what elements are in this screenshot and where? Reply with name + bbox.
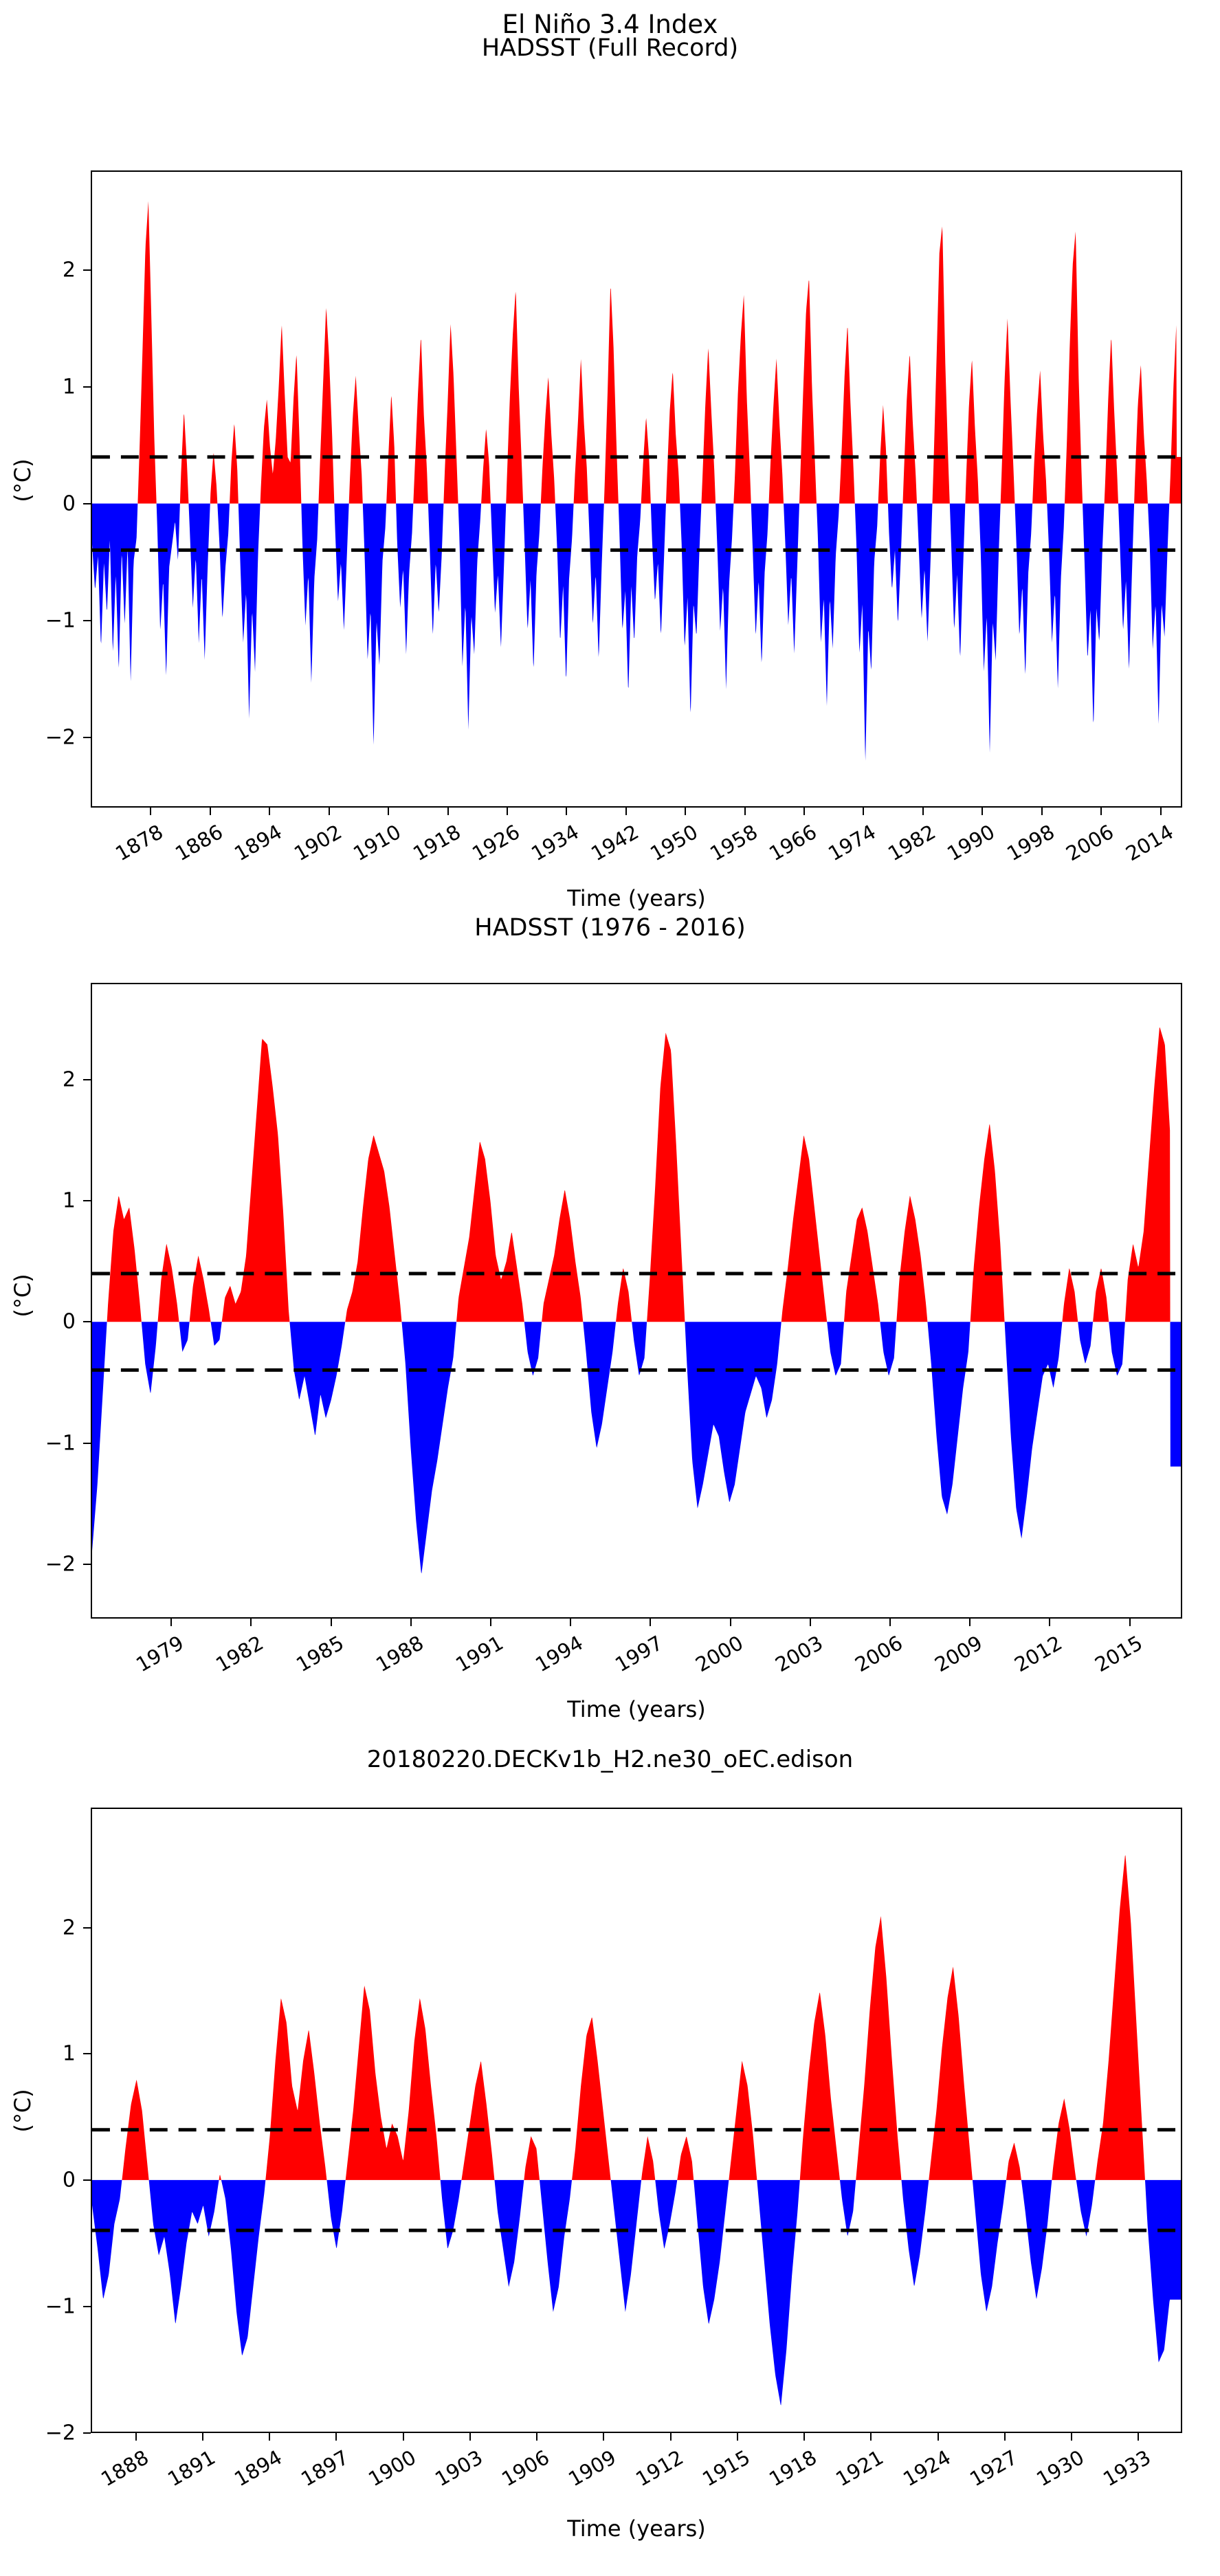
- x-tick-label: 1988: [351, 1631, 428, 1688]
- x-tick-mark: [863, 808, 864, 815]
- y-tick-mark: [83, 2053, 91, 2054]
- x-tick-label: 1894: [210, 2445, 287, 2502]
- x-tick-label: 1926: [447, 820, 524, 877]
- x-tick-mark: [969, 1619, 971, 1626]
- x-tick-mark: [938, 2433, 939, 2441]
- x-tick-mark: [536, 2433, 537, 2441]
- y-tick-label: −2: [15, 725, 76, 749]
- x-tick-mark: [1004, 2433, 1006, 2441]
- panel-2-axes: [91, 983, 1182, 1619]
- x-tick-mark: [403, 2433, 404, 2441]
- x-tick-label: 2012: [990, 1631, 1067, 1688]
- y-tick-mark: [83, 1927, 91, 1929]
- x-tick-mark: [202, 2433, 203, 2441]
- x-tick-label: 2014: [1101, 820, 1177, 877]
- x-tick-mark: [625, 808, 627, 815]
- x-tick-label: 1950: [626, 820, 702, 877]
- y-tick-mark: [83, 620, 91, 621]
- y-tick-mark: [83, 737, 91, 738]
- x-tick-label: 1921: [812, 2445, 888, 2502]
- x-tick-mark: [210, 808, 211, 815]
- y-tick-label: −2: [15, 1552, 76, 1576]
- x-tick-mark: [507, 808, 508, 815]
- x-tick-label: 1878: [91, 820, 168, 877]
- x-tick-label: 1991: [431, 1631, 507, 1688]
- x-tick-mark: [670, 2433, 672, 2441]
- x-tick-label: 2006: [830, 1631, 907, 1688]
- x-tick-mark: [737, 2433, 738, 2441]
- y-tick-mark: [83, 1443, 91, 1444]
- y-tick-label: −1: [15, 608, 76, 632]
- x-tick-label: 1982: [192, 1631, 268, 1688]
- x-tick-mark: [1138, 2433, 1139, 2441]
- negative-anomaly-area: [92, 2180, 1181, 2406]
- y-tick-mark: [83, 503, 91, 504]
- panel-1-plot: [92, 172, 1181, 806]
- y-tick-label: 0: [15, 2168, 76, 2192]
- y-tick-mark: [83, 2179, 91, 2181]
- y-tick-label: 2: [15, 258, 76, 282]
- x-tick-label: 1924: [878, 2445, 955, 2502]
- y-tick-mark: [83, 2432, 91, 2434]
- x-tick-mark: [803, 2433, 805, 2441]
- y-tick-mark: [83, 386, 91, 388]
- y-tick-label: 0: [15, 1310, 76, 1334]
- y-tick-label: 1: [15, 1189, 76, 1213]
- x-tick-mark: [922, 808, 924, 815]
- x-tick-label: 1909: [544, 2445, 621, 2502]
- panel-3-xlabel: Time (years): [91, 2516, 1182, 2542]
- x-tick-label: 2003: [751, 1631, 827, 1688]
- y-tick-mark: [83, 1321, 91, 1322]
- y-tick-label: −2: [15, 2421, 76, 2445]
- x-tick-label: 1906: [478, 2445, 554, 2502]
- x-tick-mark: [1160, 808, 1162, 815]
- x-tick-label: 1979: [112, 1631, 188, 1688]
- x-tick-label: 1915: [678, 2445, 754, 2502]
- x-tick-mark: [170, 1619, 172, 1626]
- y-tick-mark: [83, 1200, 91, 1201]
- x-tick-label: 1918: [745, 2445, 821, 2502]
- panel-3-title: 20180220.DECKv1b_H2.ne30_oEC.edison: [0, 1746, 1220, 1773]
- x-tick-mark: [388, 808, 389, 815]
- x-tick-label: 1903: [410, 2445, 487, 2502]
- x-tick-label: 1982: [863, 820, 940, 877]
- x-tick-label: 1902: [269, 820, 346, 877]
- x-tick-label: 1900: [344, 2445, 420, 2502]
- x-tick-mark: [566, 808, 567, 815]
- x-tick-mark: [744, 808, 746, 815]
- x-tick-mark: [269, 2433, 270, 2441]
- x-tick-mark: [490, 1619, 491, 1626]
- x-tick-label: 2006: [1042, 820, 1118, 877]
- x-tick-mark: [803, 808, 805, 815]
- negative-anomaly-area: [92, 1322, 1181, 1573]
- x-tick-label: 1886: [151, 820, 227, 877]
- x-tick-label: 1930: [1012, 2445, 1088, 2502]
- x-tick-mark: [603, 2433, 604, 2441]
- x-tick-mark: [331, 1619, 332, 1626]
- x-tick-mark: [685, 808, 686, 815]
- y-tick-label: 1: [15, 2042, 76, 2066]
- x-tick-mark: [810, 1619, 811, 1626]
- x-tick-label: 1933: [1079, 2445, 1155, 2502]
- x-tick-mark: [469, 2433, 471, 2441]
- x-tick-mark: [329, 808, 330, 815]
- x-tick-label: 1998: [982, 820, 1058, 877]
- y-tick-label: −1: [15, 1431, 76, 1455]
- x-tick-label: 1990: [923, 820, 999, 877]
- x-tick-mark: [410, 1619, 412, 1626]
- x-tick-label: 1888: [76, 2445, 153, 2502]
- x-tick-mark: [570, 1619, 571, 1626]
- x-tick-mark: [135, 2433, 137, 2441]
- x-tick-mark: [447, 808, 449, 815]
- panel-2-plot: [92, 984, 1181, 1617]
- x-tick-mark: [730, 1619, 731, 1626]
- y-tick-label: 2: [15, 1916, 76, 1940]
- x-tick-mark: [1041, 808, 1043, 815]
- x-tick-label: 1985: [271, 1631, 348, 1688]
- x-tick-label: 1997: [591, 1631, 667, 1688]
- y-tick-label: 1: [15, 375, 76, 399]
- x-tick-mark: [335, 2433, 337, 2441]
- x-tick-mark: [150, 808, 151, 815]
- y-tick-label: 0: [15, 491, 76, 515]
- x-tick-label: 1894: [210, 820, 287, 877]
- x-tick-mark: [1129, 1619, 1131, 1626]
- x-tick-mark: [889, 1619, 891, 1626]
- x-tick-mark: [981, 808, 983, 815]
- x-tick-label: 1974: [804, 820, 880, 877]
- y-tick-mark: [83, 1079, 91, 1080]
- negative-anomaly-area: [92, 504, 1169, 761]
- x-tick-label: 1897: [277, 2445, 353, 2502]
- x-tick-label: 1994: [511, 1631, 588, 1688]
- x-tick-label: 2009: [911, 1631, 987, 1688]
- x-tick-label: 1918: [388, 820, 465, 877]
- panel-3-plot: [92, 1809, 1181, 2432]
- x-tick-mark: [1049, 1619, 1050, 1626]
- panel-3-ylabel: (°C): [10, 2069, 36, 2152]
- y-tick-label: 2: [15, 1067, 76, 1091]
- panel-1-title: HADSST (Full Record): [0, 34, 1220, 62]
- positive-anomaly-area: [107, 1028, 1171, 1322]
- x-tick-label: 1958: [685, 820, 762, 877]
- panel-1-xlabel: Time (years): [91, 885, 1182, 911]
- y-tick-mark: [83, 2306, 91, 2307]
- y-tick-mark: [83, 1564, 91, 1565]
- y-tick-label: −1: [15, 2295, 76, 2319]
- x-tick-mark: [870, 2433, 872, 2441]
- x-tick-label: 1934: [507, 820, 584, 877]
- panel-3-axes: [91, 1808, 1182, 2433]
- x-tick-mark: [1100, 808, 1102, 815]
- x-tick-label: 2015: [1070, 1631, 1146, 1688]
- x-tick-label: 2000: [671, 1631, 747, 1688]
- x-tick-label: 1927: [945, 2445, 1021, 2502]
- x-tick-label: 1942: [566, 820, 643, 877]
- figure-root: El Niño 3.4 Index HADSST (Full Record) (…: [0, 0, 1220, 2576]
- x-tick-mark: [650, 1619, 651, 1626]
- x-tick-label: 1910: [329, 820, 406, 877]
- panel-2-xlabel: Time (years): [91, 1696, 1182, 1722]
- panel-1-axes: [91, 170, 1182, 808]
- x-tick-label: 1966: [745, 820, 821, 877]
- panel-2-title: HADSST (1976 - 2016): [0, 914, 1220, 942]
- x-tick-label: 1891: [144, 2445, 220, 2502]
- x-tick-mark: [250, 1619, 252, 1626]
- x-tick-mark: [269, 808, 270, 815]
- x-tick-mark: [1071, 2433, 1072, 2441]
- x-tick-label: 1912: [611, 2445, 687, 2502]
- y-tick-mark: [83, 269, 91, 271]
